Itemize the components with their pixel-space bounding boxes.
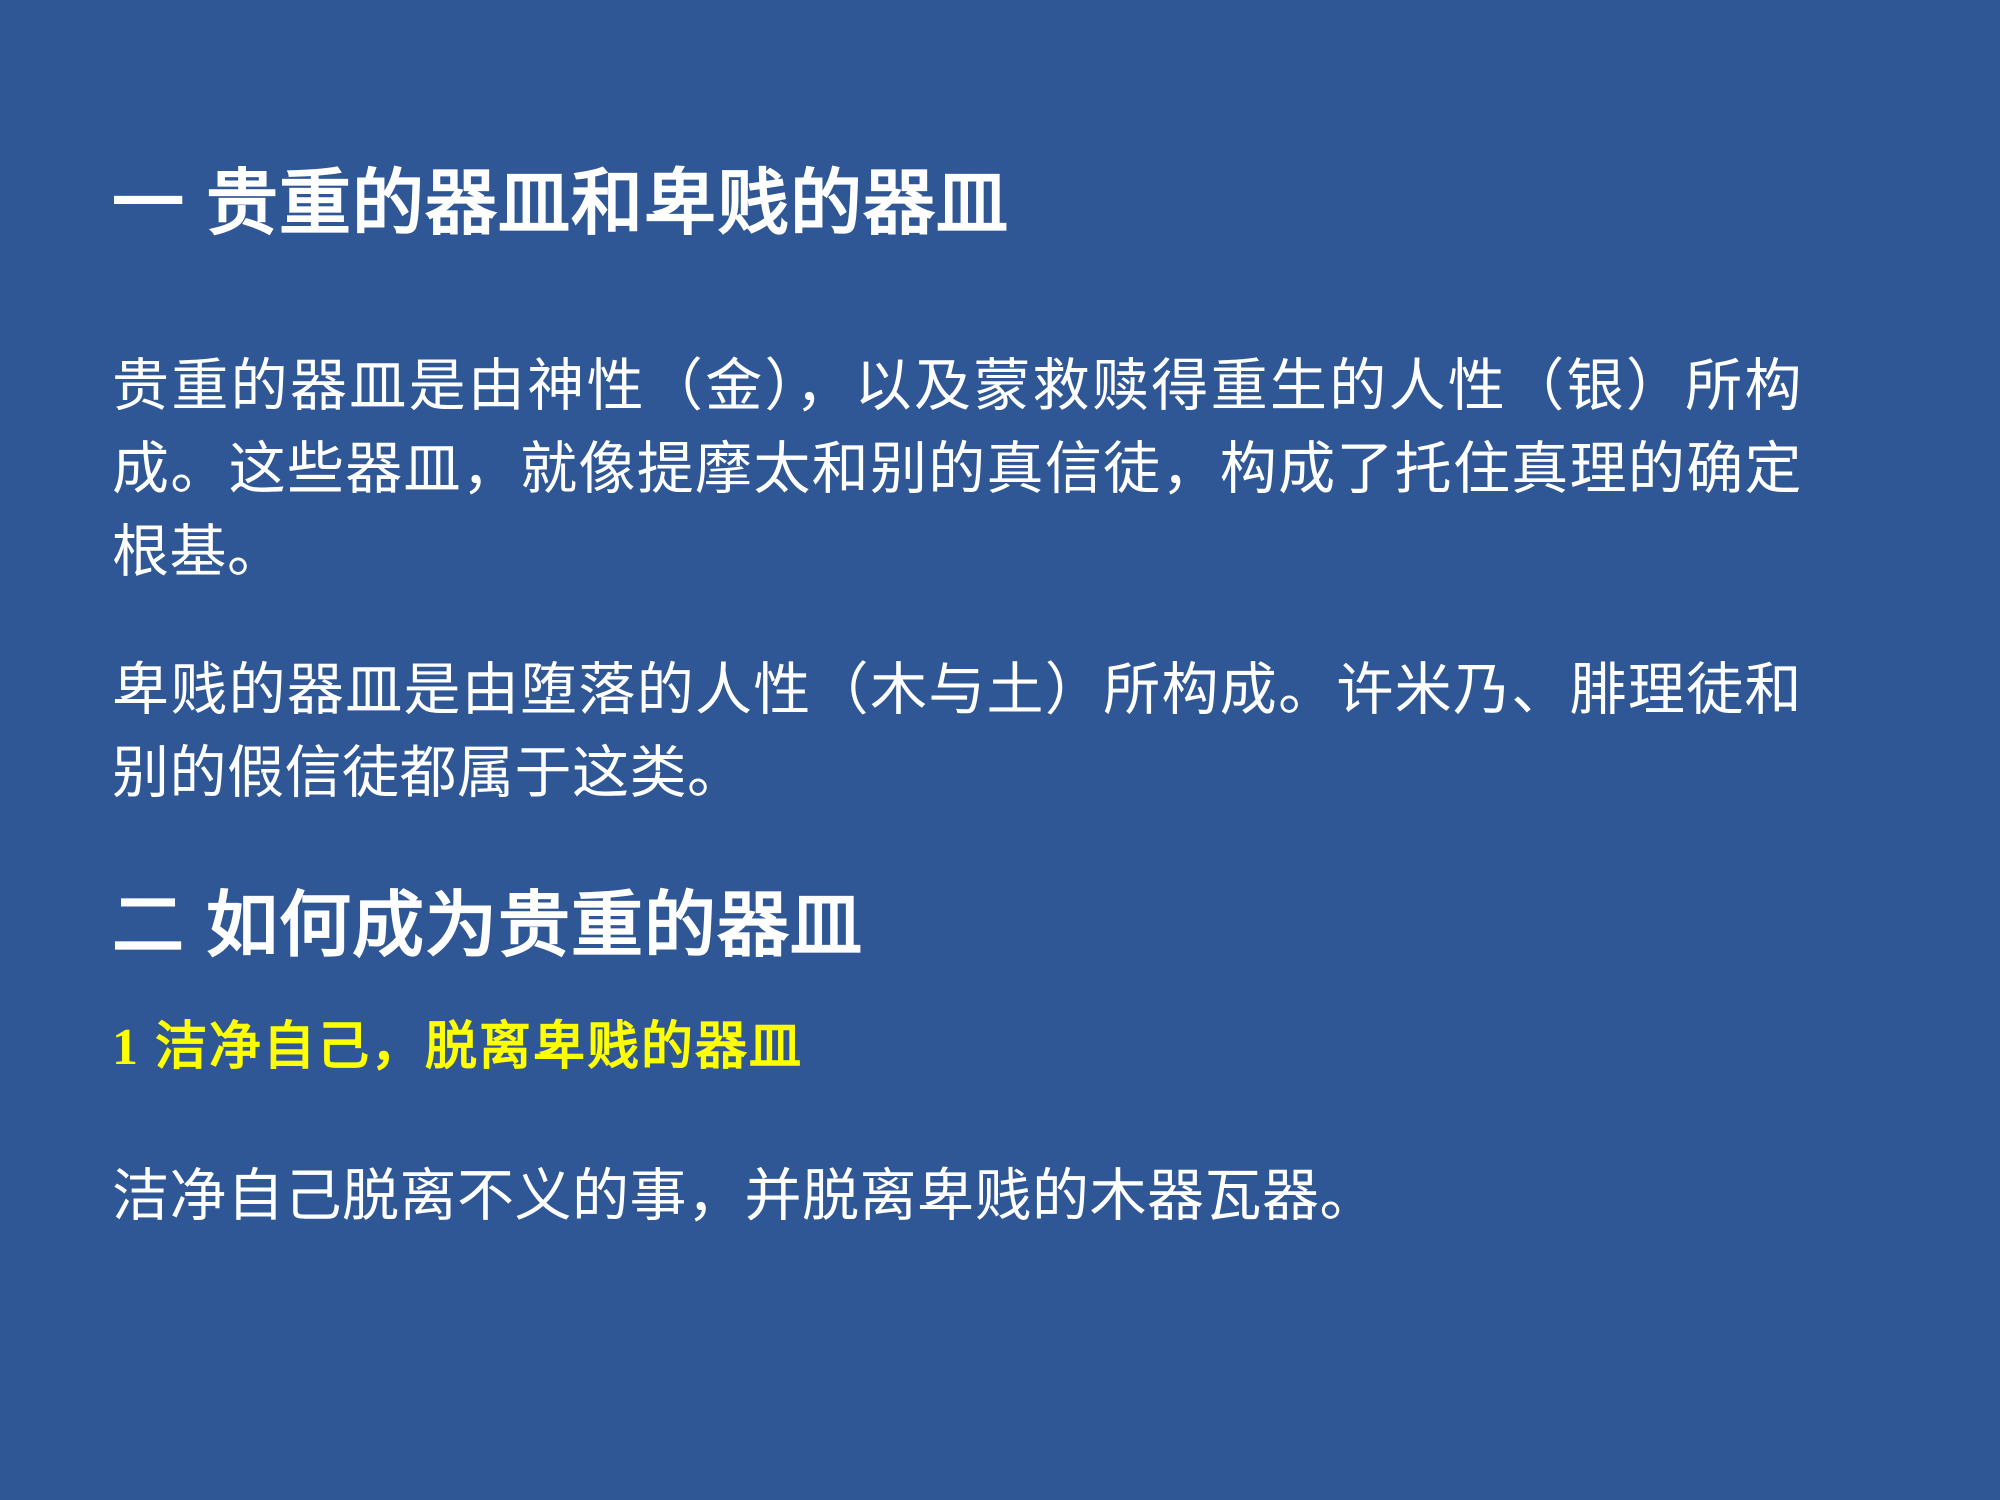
sub-heading-purify-yourself: 1 洁净自己，脱离卑贱的器皿 (112, 1018, 803, 1078)
paragraph-purify-detail: 洁净自己脱离不义的事，并脱离卑贱的木器瓦器。 (112, 1155, 1802, 1238)
section-heading-one: 一 贵重的器皿和卑贱的器皿 (112, 168, 1009, 240)
section-heading-two: 二 如何成为贵重的器皿 (112, 890, 863, 962)
presentation-slide: 一 贵重的器皿和卑贱的器皿 贵重的器皿是由神性（金），以及蒙救赎得重生的人性（银… (0, 0, 2000, 1500)
slide-content-area: 一 贵重的器皿和卑贱的器皿 贵重的器皿是由神性（金），以及蒙救赎得重生的人性（银… (112, 0, 1900, 1500)
paragraph-dishonorable-vessels: 卑贱的器皿是由堕落的人性（木与土）所构成。许米乃、腓理徒和别的假信徒都属于这类。 (112, 649, 1802, 815)
paragraph-precious-vessels: 贵重的器皿是由神性（金），以及蒙救赎得重生的人性（银）所构成。这些器皿，就像提摩… (112, 345, 1802, 594)
